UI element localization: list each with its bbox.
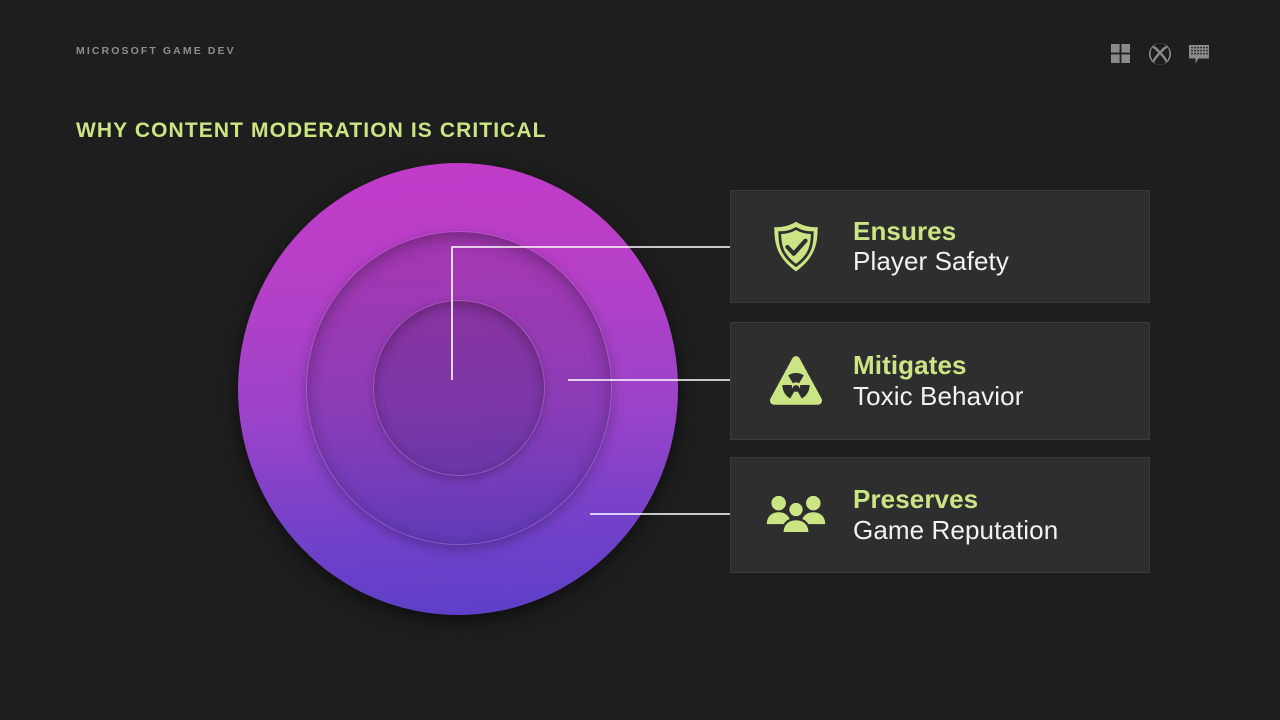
card-subline: Player Safety [853,246,1009,277]
card-subline: Game Reputation [853,515,1058,546]
card-text-block: Ensures Player Safety [853,216,1009,278]
benefit-card-game-reputation[interactable]: Preserves Game Reputation [730,457,1150,573]
card-headline: Ensures [853,216,1009,247]
concentric-rings-diagram [238,163,678,615]
card-text-block: Preserves Game Reputation [853,484,1058,546]
brand-icon-group [1108,41,1212,67]
card-subline: Toxic Behavior [853,381,1023,412]
people-group-icon [763,484,829,546]
benefit-card-toxic-behavior[interactable]: Mitigates Toxic Behavior [730,322,1150,440]
radiation-warning-icon [763,350,829,412]
slide-canvas: MICROSOFT GAME DEV [0,0,1280,720]
xbox-logo-icon [1147,41,1173,67]
benefit-card-player-safety[interactable]: Ensures Player Safety [730,190,1150,303]
card-headline: Mitigates [853,350,1023,381]
card-headline: Preserves [853,484,1058,515]
card-text-block: Mitigates Toxic Behavior [853,350,1023,412]
chat-bubble-icon [1186,41,1212,67]
shield-check-icon [763,216,829,278]
windows-logo-icon [1108,41,1134,67]
brand-eyebrow: MICROSOFT GAME DEV [76,45,236,57]
ring-inner [373,300,545,476]
page-title: WHY CONTENT MODERATION IS CRITICAL [76,119,547,143]
